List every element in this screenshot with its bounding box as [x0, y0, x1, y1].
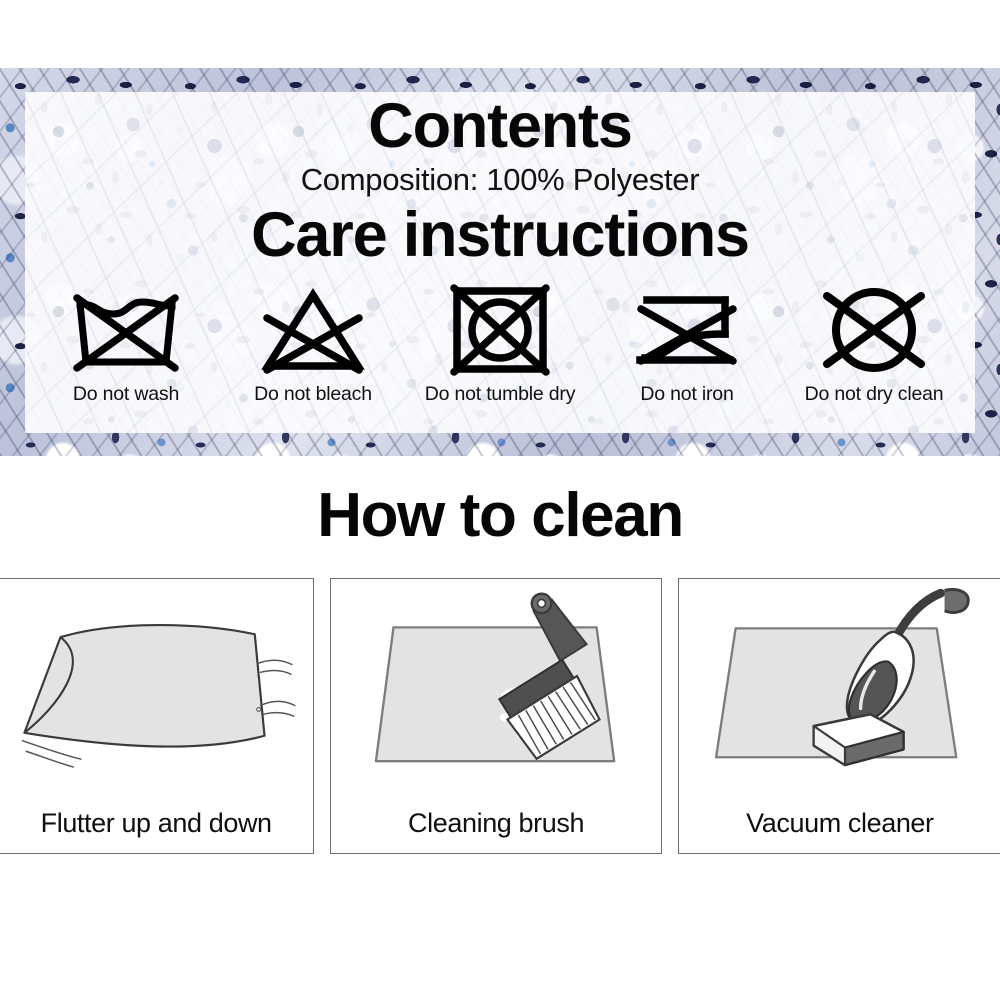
panel-divider-gap	[314, 578, 330, 854]
do-not-dry-clean-icon	[814, 282, 934, 378]
care-symbol-do-not-tumble-dry: Do not tumble dry	[407, 282, 593, 406]
do-not-tumble-dry-icon	[440, 282, 560, 378]
care-symbol-label: Do not dry clean	[805, 383, 944, 406]
contents-heading: Contents	[25, 95, 975, 158]
care-symbol-do-not-wash: Do not wash	[33, 282, 219, 406]
clean-panel-caption: Cleaning brush	[331, 808, 661, 839]
how-to-clean-panels: Flutter up and down	[0, 578, 1000, 854]
do-not-wash-icon	[66, 282, 186, 378]
vacuum-cleaner-icon	[679, 579, 1000, 791]
care-instructions-heading: Care instructions	[25, 204, 975, 267]
care-symbol-label: Do not iron	[640, 383, 733, 406]
care-symbol-do-not-bleach: Do not bleach	[220, 282, 406, 406]
composition-text: Composition: 100% Polyester	[25, 164, 975, 195]
do-not-iron-icon	[627, 282, 747, 378]
care-label-banner: Contents Composition: 100% Polyester Car…	[0, 68, 1000, 456]
dust-brush-icon	[331, 579, 661, 791]
care-symbol-do-not-dry-clean: Do not dry clean	[781, 282, 967, 406]
care-symbol-label: Do not tumble dry	[425, 383, 576, 406]
how-to-clean-heading: How to clean	[0, 485, 1000, 547]
clean-panel-vacuum: Vacuum cleaner	[678, 578, 1000, 854]
clean-panel-flutter: Flutter up and down	[0, 578, 314, 854]
care-symbol-do-not-iron: Do not iron	[594, 282, 780, 406]
care-symbol-row: Do not wash Do not bleach	[33, 282, 967, 406]
do-not-bleach-icon	[253, 282, 373, 378]
care-symbol-label: Do not bleach	[254, 383, 372, 406]
clean-panel-caption: Flutter up and down	[0, 808, 313, 839]
fluttering-fabric-icon	[0, 579, 313, 791]
clean-panel-brush: Cleaning brush	[330, 578, 662, 854]
banner-white-plate: Contents Composition: 100% Polyester Car…	[25, 92, 975, 433]
clean-panel-caption: Vacuum cleaner	[679, 808, 1000, 839]
panel-divider-gap	[662, 578, 678, 854]
care-symbol-label: Do not wash	[73, 383, 179, 406]
